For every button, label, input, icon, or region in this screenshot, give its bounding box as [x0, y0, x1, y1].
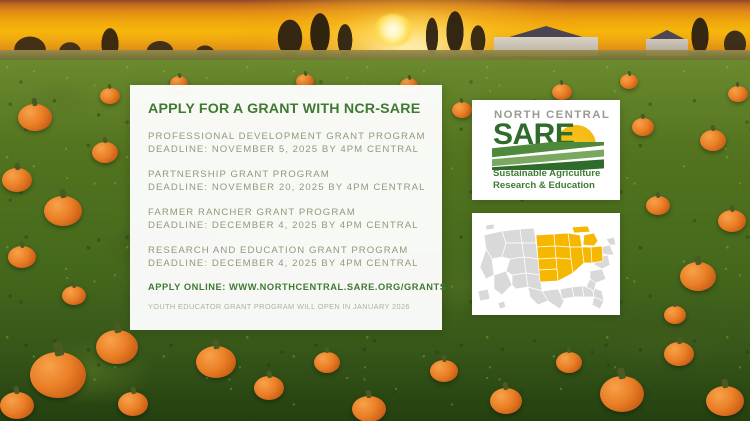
pumpkin: [646, 196, 670, 215]
pumpkin: [664, 342, 694, 366]
pumpkin: [664, 306, 686, 324]
pumpkin: [100, 88, 120, 104]
grant-deadline: DEADLINE: DECEMBER 4, 2025 BY 4PM CENTRA…: [148, 257, 424, 270]
pumpkin: [0, 392, 34, 419]
pumpkin: [430, 360, 458, 382]
grant-name: PROFESSIONAL DEVELOPMENT GRANT PROGRAM: [148, 130, 424, 143]
pumpkin: [600, 376, 644, 412]
pumpkin: [62, 286, 86, 305]
pumpkin: [2, 168, 32, 192]
grant-item: FARMER RANCHER GRANT PROGRAM DEADLINE: D…: [148, 206, 424, 232]
us-map-icon: [472, 213, 620, 315]
promotional-graphic: APPLY FOR A GRANT WITH NCR-SARE PROFESSI…: [0, 0, 750, 421]
pumpkin: [452, 102, 472, 118]
pumpkin: [700, 130, 726, 151]
grant-deadline: DEADLINE: DECEMBER 4, 2025 BY 4PM CENTRA…: [148, 219, 424, 232]
logo-tagline-line1: Sustainable Agriculture: [493, 168, 600, 179]
grant-item: PROFESSIONAL DEVELOPMENT GRANT PROGRAM D…: [148, 130, 424, 156]
logo-tagline: Sustainable Agriculture Research & Educa…: [493, 168, 600, 191]
pumpkin: [92, 142, 118, 163]
pumpkin: [8, 246, 36, 268]
pumpkin: [718, 210, 746, 232]
grant-info-panel: APPLY FOR A GRANT WITH NCR-SARE PROFESSI…: [130, 85, 442, 330]
logo-tagline-line2: Research & Education: [493, 180, 595, 191]
page-title: APPLY FOR A GRANT WITH NCR-SARE: [148, 101, 424, 117]
pumpkin: [632, 118, 654, 136]
pumpkin: [728, 86, 748, 102]
grant-name: PARTNERSHIP GRANT PROGRAM: [148, 168, 424, 181]
pumpkin: [18, 104, 52, 131]
apply-online-link[interactable]: APPLY ONLINE: WWW.NORTHCENTRAL.SARE.ORG/…: [148, 282, 424, 292]
pumpkin: [254, 376, 284, 400]
grant-name: FARMER RANCHER GRANT PROGRAM: [148, 206, 424, 219]
pumpkin: [552, 84, 572, 100]
ncr-sare-logo: NORTH CENTRAL SARE Sustainable Agricultu…: [472, 100, 620, 200]
grant-name: RESEARCH AND EDUCATION GRANT PROGRAM: [148, 244, 424, 257]
pumpkin: [490, 388, 522, 414]
grant-deadline: DEADLINE: NOVEMBER 20, 2025 BY 4PM CENTR…: [148, 181, 424, 194]
grant-item: RESEARCH AND EDUCATION GRANT PROGRAM DEA…: [148, 244, 424, 270]
pumpkin: [706, 386, 744, 416]
pumpkin: [196, 346, 236, 378]
pumpkin: [96, 330, 138, 364]
pumpkin: [30, 352, 86, 398]
grant-deadline: DEADLINE: NOVEMBER 5, 2025 BY 4PM CENTRA…: [148, 143, 424, 156]
youth-educator-footnote: YOUTH EDUCATOR GRANT PROGRAM WILL OPEN I…: [148, 302, 424, 311]
pumpkin: [680, 262, 716, 291]
pumpkin: [352, 396, 386, 421]
ncr-sare-region-map: NCR-SARE region map of the United States: [472, 213, 620, 315]
grant-item: PARTNERSHIP GRANT PROGRAM DEADLINE: NOVE…: [148, 168, 424, 194]
pumpkin: [118, 392, 148, 416]
pumpkin: [44, 196, 82, 226]
pumpkin: [314, 352, 340, 373]
pumpkin: [556, 352, 582, 373]
pumpkin: [620, 74, 638, 89]
rolling-field-icon: [492, 142, 604, 170]
